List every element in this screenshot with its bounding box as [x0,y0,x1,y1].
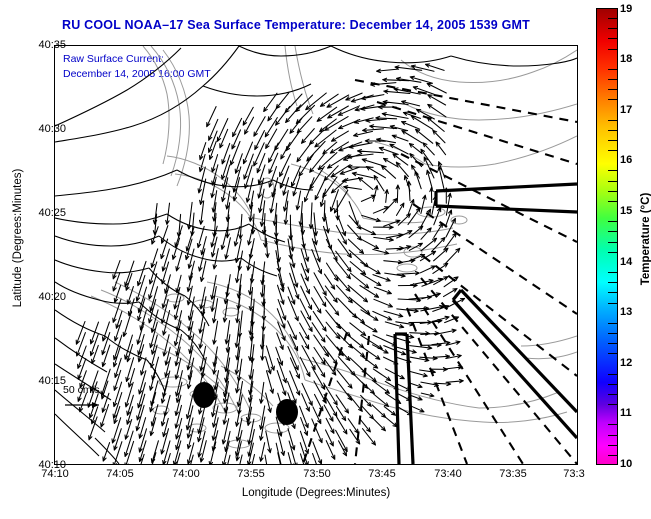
current-vector [360,419,370,432]
current-vector [372,405,385,418]
current-vector [222,143,230,164]
current-vector [276,107,290,126]
current-vector [350,323,366,336]
current-vector [374,394,389,406]
current-vector [151,441,158,463]
current-vector [336,395,348,413]
current-vector [76,322,85,345]
current-vector [113,273,120,292]
colorbar-minor-tick [608,384,617,385]
current-vector [248,226,253,245]
current-vector [226,203,229,222]
current-vector [377,69,398,73]
y-tick-3: 40:20 [38,291,66,303]
current-vector [374,419,386,431]
cbar-tick-7: 12 [620,357,632,369]
current-vector [207,107,216,127]
colorbar-minor-tick [608,435,617,436]
current-vector [212,237,218,257]
current-vector [173,441,180,464]
colorbar-minor-tick [608,424,617,425]
current-vector [430,188,433,203]
current-vector [384,260,403,263]
colorbar-minor-tick [608,282,617,283]
current-vector [384,311,403,317]
y-axis-label: Latitude (Degrees:Minutes) [12,128,24,348]
current-vector [421,228,431,239]
current-vector [373,186,378,202]
current-vector [366,119,387,122]
colorbar-minor-tick [608,201,617,202]
current-vector [327,263,339,281]
current-vector [361,369,376,382]
current-vector [301,286,312,309]
current-vector [213,321,218,344]
current-vector [314,287,326,307]
current-vector [313,442,322,464]
current-vector [350,311,365,323]
current-vector [125,431,134,456]
current-vector [420,266,435,273]
current-vector [349,143,372,148]
current-vector [260,443,265,462]
current-vector [327,95,349,107]
current-vector [348,419,358,434]
current-vector [444,233,457,250]
current-vector [390,125,407,130]
y-tick-2: 40:25 [38,207,66,219]
scale-arrow-icon [63,399,107,411]
cbar-tick-3: 16 [620,154,632,166]
colorbar-minor-tick [608,242,617,243]
colorbar-minor-tick [608,455,617,456]
current-vector [266,431,271,453]
cbar-tick-6: 13 [620,306,632,318]
cbar-tick-4: 15 [620,205,632,217]
current-vector [187,371,192,389]
x-axis-label: Longitude (Degrees:Minutes) [54,487,578,499]
colorbar-minor-tick [608,79,617,80]
current-vector [361,310,378,321]
current-vector [260,406,265,430]
current-vector [377,138,396,143]
x-tick-6: 73:40 [434,468,462,480]
current-vector [150,370,156,390]
colorbar-minor-tick [608,343,617,344]
colorbar-minor-tick [608,99,617,100]
current-vector [296,191,301,210]
current-vector [209,119,218,140]
current-vector [176,251,182,271]
station-markers [193,382,298,425]
current-vector [312,298,321,313]
current-vector [433,130,445,143]
colorbar-minor-tick [608,445,617,446]
colorbar-minor-tick [608,272,617,273]
current-vector [361,262,381,274]
current-vector [397,203,404,215]
current-vector [438,167,444,189]
colorbar-minor-tick [608,221,617,222]
current-vector [374,176,384,191]
current-vector [343,154,361,161]
current-vector [138,261,147,285]
scale-label: 50 cm/s [63,384,107,396]
current-vector [373,275,390,282]
colorbar-minor-tick [608,28,617,29]
current-vector [175,358,181,379]
temperature-colorbar[interactable] [596,8,618,465]
current-vector [410,406,424,412]
current-vector [249,275,253,295]
current-vector [432,341,450,344]
current-vector [200,441,206,462]
current-vector [247,249,252,270]
current-vector [302,383,312,405]
current-vector [362,323,377,332]
x-tick-1: 74:05 [106,468,134,480]
current-vector [269,143,279,162]
current-vector [233,118,242,136]
current-vector [187,429,193,449]
map-graphics [55,46,577,464]
colorbar-minor-tick [608,191,617,192]
current-vector [352,172,373,178]
current-vector [427,83,446,93]
y-tick-0: 40:35 [38,39,66,51]
colorbar-minor-tick [608,374,617,375]
current-vector [314,273,326,296]
current-vector [434,248,448,261]
current-vector [113,382,121,407]
x-tick-2: 74:00 [172,468,200,480]
current-vector [374,237,394,241]
current-vector [297,117,312,133]
current-vector [277,359,286,383]
current-vector [123,311,131,336]
x-tick-5: 73:45 [368,468,396,480]
colorbar-minor-tick [608,353,617,354]
current-vector [402,101,420,106]
current-vector [385,417,397,427]
colorbar-minor-tick [608,333,617,334]
colorbar-minor-tick [608,130,617,131]
colorbar-minor-tick [608,292,617,293]
current-vector [176,275,181,292]
colorbar-minor-tick [608,38,617,39]
colorbar-minor-tick [608,69,617,70]
current-vector [422,293,441,299]
cbar-tick-9: 10 [620,458,632,470]
colorbar-minor-tick [608,49,617,50]
current-vector [402,122,420,130]
current-vector [300,323,309,339]
colorbar-minor-tick [608,303,617,304]
colorbar-minor-tick [608,18,617,19]
current-vector [199,323,205,349]
current-vector [90,334,98,355]
current-vector [269,153,278,173]
current-vector [270,189,276,213]
current-vector [415,171,421,189]
current-vector [236,262,240,283]
current-vector [334,190,347,213]
current-vector [200,143,206,160]
y-tick-1: 40:30 [38,123,66,135]
current-vector [362,406,374,419]
current-vector [313,369,325,390]
current-vector [267,371,274,394]
current-vector [151,249,158,268]
colorbar-minor-tick [608,252,617,253]
current-vector [362,347,380,360]
current-vector [314,335,329,356]
current-vector [416,129,433,143]
current-vector [359,178,373,190]
colorbar-minor-tick [608,323,617,324]
y-tick-4: 40:15 [38,375,66,387]
current-vector [409,371,427,377]
current-vector [200,179,206,204]
current-vector [384,220,400,226]
current-vector [211,226,217,247]
current-vector [225,238,231,259]
current-vector [326,239,337,260]
current-vector [397,77,421,82]
current-vector [374,299,393,307]
current-vector [408,200,414,215]
current-vector [198,431,205,457]
current-vector [361,227,376,234]
current-vector [363,129,384,132]
current-vector [175,226,182,247]
current-vector [421,209,431,226]
current-vector [375,287,392,294]
current-vector [423,143,434,155]
colorbar-label: Temperature (°C) [640,159,651,319]
current-vector [139,429,147,452]
current-vector [300,299,311,320]
current-vector [277,371,286,396]
current-vector [434,329,456,334]
current-vector [360,239,378,249]
current-vector [395,66,422,71]
current-vector [137,322,144,344]
colorbar-minor-tick [608,394,617,395]
colorbar-minor-tick [608,404,617,405]
current-vector [344,186,362,190]
current-vector [265,118,277,137]
colorbar-minor-tick [608,140,617,141]
current-vector [116,311,122,328]
current-vector [373,249,389,254]
current-vector [209,442,216,464]
current-vector [261,262,265,285]
cbar-tick-8: 11 [620,407,632,419]
current-vector [433,355,449,358]
current-vector [421,195,426,213]
current-vector [446,379,463,382]
cbar-tick-1: 18 [620,53,632,65]
x-tick-8: 73:3 [563,468,584,480]
current-vector [114,285,120,302]
current-vector [197,226,204,247]
current-vector [349,202,358,226]
current-vector [163,311,170,336]
current-vector [162,286,169,308]
cbar-tick-0: 19 [620,3,632,15]
current-vector [102,345,110,367]
current-vector [217,119,227,142]
current-vector [385,190,388,203]
current-vector [266,346,274,370]
current-vector [288,429,295,450]
current-vector [432,238,445,252]
cbar-tick-2: 17 [620,104,632,116]
current-vector [286,105,301,123]
colorbar-minor-tick [608,89,617,90]
x-tick-3: 73:55 [237,468,265,480]
current-vector [445,248,459,263]
current-vector [162,262,169,284]
current-vector [300,333,309,350]
current-vector [235,154,242,174]
colorbar-minor-tick [608,150,617,151]
current-vector [392,135,408,141]
vector-scale-annotation: 50 cm/s [63,384,107,416]
current-vector [186,394,193,419]
current-vector [288,287,295,304]
current-vector [243,107,253,125]
x-tick-7: 73:35 [499,468,527,480]
current-vector [266,129,277,148]
current-vector [358,150,384,153]
coastline [55,46,577,464]
cbar-tick-5: 14 [620,256,632,268]
colorbar-minor-tick [608,120,617,121]
current-vector [332,131,349,141]
current-vector [286,131,300,150]
current-vector [314,213,317,236]
current-vector [409,144,422,154]
current-vector [265,455,269,464]
page-title: RU COOL NOAA–17 Sea Surface Temperature:… [0,18,592,32]
current-vector [176,418,182,439]
current-vector [436,142,446,155]
x-tick-0: 74:10 [41,468,69,480]
current-vector [299,154,313,176]
current-vector [176,429,182,449]
current-vector [354,131,373,136]
current-vector [444,366,462,370]
colorbar-minor-tick [608,170,617,171]
x-tick-4: 73:50 [303,468,331,480]
current-vector [409,383,422,388]
colorbar-minor-tick [608,231,617,232]
map-plot-area[interactable]: Raw Surface Current: December 14, 2005 1… [54,45,578,465]
colorbar-minor-tick [608,181,617,182]
current-vector [113,442,122,464]
current-vector [92,345,99,363]
